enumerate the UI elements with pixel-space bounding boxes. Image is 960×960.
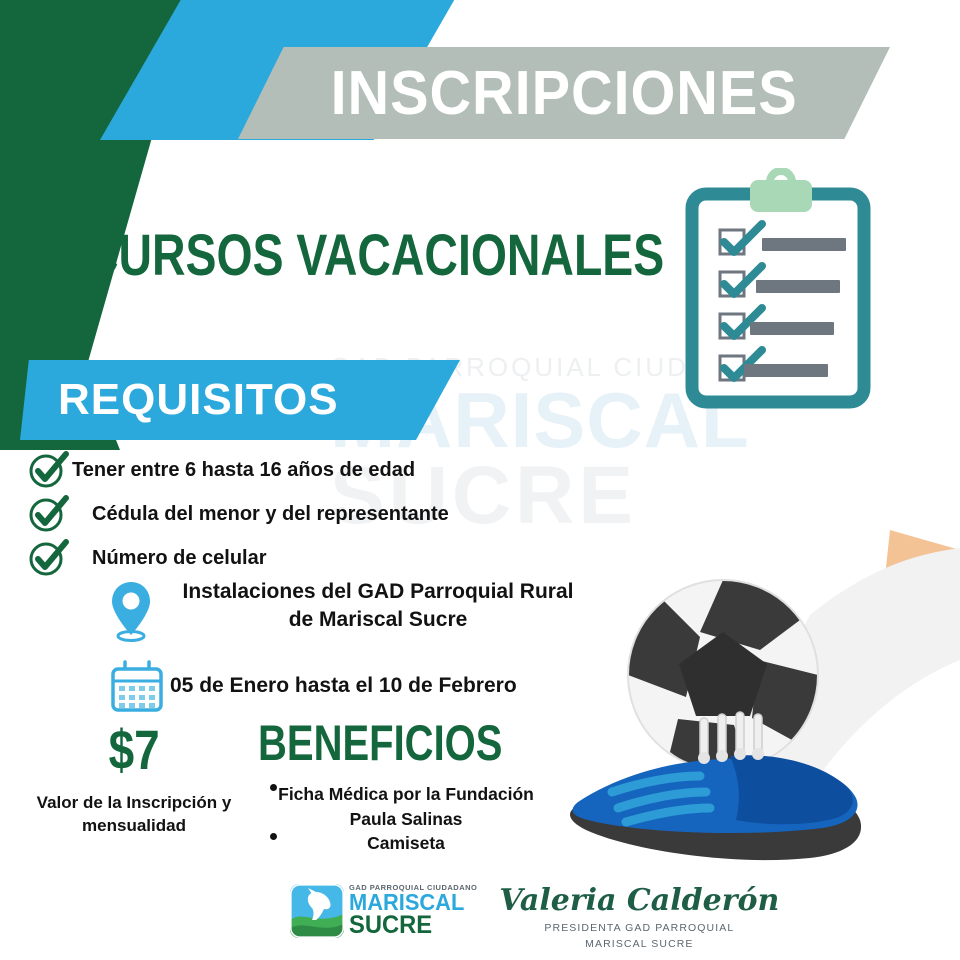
list-item-label: Camiseta [367, 833, 445, 853]
calendar-icon [108, 660, 166, 712]
logo-wordmark: GAD PARROQUIAL CIUDADANO MARISCAL SUCRE [349, 884, 477, 937]
bullet-icon [270, 833, 277, 840]
signature-role: PRESIDENTA GAD PARROQUIAL MARISCAL SUCRE [499, 921, 779, 953]
section-banner-requisitos: REQUISITOS [20, 360, 460, 440]
horse-badge-icon [290, 884, 344, 938]
list-item: Número de celular [26, 538, 586, 578]
location-label: Instalaciones del GAD Parroquial Rural d… [168, 578, 588, 635]
logo-name-bottom: SUCRE [349, 914, 471, 938]
signature-role-line-1: PRESIDENTA GAD PARROQUIAL [499, 921, 779, 937]
organization-logo: GAD PARROQUIAL CIUDADANO MARISCAL SUCRE [290, 884, 477, 938]
bullet-icon [270, 784, 277, 791]
check-circle-icon [26, 450, 72, 490]
page-title: CURSOS VACACIONALES [85, 222, 664, 289]
list-item: Tener entre 6 hasta 16 años de edad [26, 450, 586, 490]
list-item-label: Ficha Médica por la Fundación Paula Sali… [278, 784, 534, 829]
list-item-label: Cédula del menor y del representante [92, 503, 449, 526]
soccer-ball-and-cleat-icon [560, 520, 960, 910]
signature-block: Valeria Calderón PRESIDENTA GAD PARROQUI… [499, 884, 779, 953]
signature-role-line-2: MARISCAL SUCRE [499, 937, 779, 953]
header-banner-label: INSCRIPCIONES [330, 58, 797, 129]
list-item: Ficha Médica por la Fundación Paula Sali… [258, 782, 554, 831]
signature-name: Valeria Calderón [499, 886, 779, 916]
list-item: Camiseta [258, 831, 554, 856]
price-block: $7 Valor de la Inscripción y mensualidad [14, 722, 254, 838]
check-circle-icon [26, 494, 72, 534]
benefits-title: BENEFICIOS [258, 718, 495, 768]
benefits-block: BENEFICIOS Ficha Médica por la Fundación… [258, 718, 554, 856]
price-amount: $7 [14, 722, 254, 778]
clipboard-checklist-icon [678, 168, 888, 413]
benefits-list: Ficha Médica por la Fundación Paula Sali… [258, 782, 554, 856]
header-banner: INSCRIPCIONES [238, 47, 890, 139]
map-pin-icon [108, 580, 154, 642]
footer: GAD PARROQUIAL CIUDADANO MARISCAL SUCRE … [290, 884, 779, 953]
requirements-list: Tener entre 6 hasta 16 años de edad Cédu… [26, 450, 586, 582]
check-circle-icon [26, 538, 72, 578]
price-caption: Valor de la Inscripción y mensualidad [14, 792, 254, 838]
list-item: Cédula del menor y del representante [26, 494, 586, 534]
date-label: 05 de Enero hasta el 10 de Febrero [170, 674, 517, 698]
date-row: 05 de Enero hasta el 10 de Febrero [108, 660, 517, 712]
location-row: Instalaciones del GAD Parroquial Rural d… [108, 578, 588, 642]
list-item-label: Número de celular [92, 547, 267, 570]
section-banner-label: REQUISITOS [58, 375, 339, 425]
poster-canvas: GAD PARROQUIAL CIUDADANO MARISCAL SUCRE … [0, 0, 960, 960]
list-item-label: Tener entre 6 hasta 16 años de edad [72, 459, 415, 482]
